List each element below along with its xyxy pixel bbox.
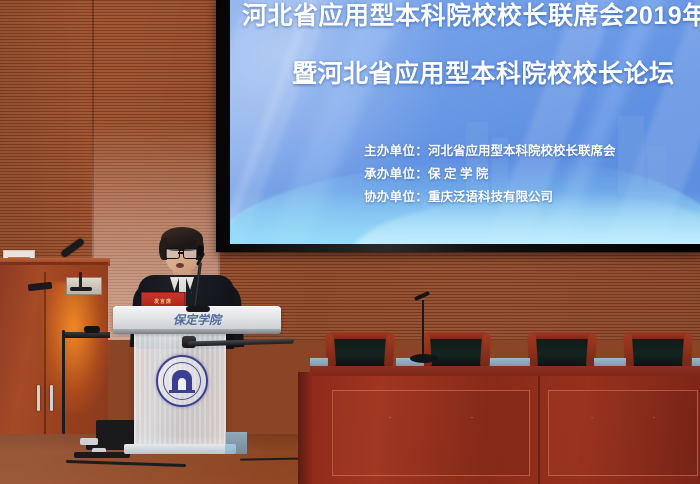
university-emblem (156, 355, 208, 407)
organizer-value: 河北省应用型本科院校校长联席会 (428, 144, 616, 158)
conference-chair[interactable] (326, 330, 394, 370)
mic-stand-stem (79, 272, 82, 289)
organizer-value: 重庆泛语科技有限公司 (428, 190, 553, 204)
lectern-top-edge (113, 329, 281, 334)
table-decor-panel (332, 390, 530, 476)
chair-backrest (332, 336, 388, 366)
organizer-label: 协办单位： (364, 190, 428, 204)
table-decor-panel (548, 390, 698, 476)
organizer-label: 主办单位： (364, 144, 428, 158)
chair-backrest (428, 336, 484, 366)
nameplate-text: 发言席 (154, 298, 172, 305)
table-left-end (298, 372, 312, 484)
emblem-arch-icon (172, 370, 192, 392)
conference-hall-scene: 河北省应用型本科院校校长联席会2019年 暨河北省应用型本科院校校长论坛 主办单… (0, 0, 700, 484)
conference-chair[interactable] (624, 330, 692, 370)
projection-screen: 河北省应用型本科院校校长联席会2019年 暨河北省应用型本科院校校长论坛 主办单… (230, 0, 700, 244)
speaker-mouth (176, 263, 184, 268)
organizer-value: 保 定 学 院 (428, 167, 488, 181)
chair-backrest (630, 336, 686, 366)
cabinet-tray-device (84, 326, 100, 333)
floor-cable-bundle (74, 452, 130, 458)
slide-title-line-1: 河北省应用型本科院校校长联席会2019年 (242, 0, 700, 32)
table-panel-chevron (561, 417, 685, 448)
speaker-glasses-lens (183, 248, 198, 259)
chair-top-rail (328, 332, 392, 339)
chair-backrest (534, 336, 590, 366)
organizer-row: 协办单位：重庆泛语科技有限公司 (364, 186, 616, 209)
organizer-label: 承办单位： (364, 167, 428, 181)
table-mic-base (410, 354, 438, 363)
cabinet-warm-light (44, 282, 110, 412)
table-panel-chevron (349, 417, 514, 448)
floor-connector (80, 438, 98, 445)
cabinet-door-seam (44, 272, 46, 440)
chair-top-rail (626, 332, 690, 339)
emblem-base-bar (169, 390, 195, 393)
podium-mic-base (186, 306, 210, 312)
slide-organizer-list: 主办单位：河北省应用型本科院校校长联席会 承办单位：保 定 学 院 协办单位：重… (364, 140, 616, 209)
lectern-foot (225, 432, 247, 454)
table-mic-stem (422, 300, 424, 358)
organizer-row: 主办单位：河北省应用型本科院校校长联席会 (364, 140, 616, 163)
chair-arm (384, 334, 395, 369)
cabinet-handle[interactable] (50, 385, 53, 411)
conference-table-group (310, 330, 700, 484)
conference-chair[interactable] (528, 330, 596, 370)
table-section-seam (538, 376, 540, 484)
conference-chair[interactable] (422, 330, 490, 370)
slide-title-line-2: 暨河北省应用型本科院校校长论坛 (292, 58, 700, 90)
mic-stand-plate (66, 277, 102, 295)
cabinet-handle[interactable] (37, 385, 40, 411)
wall-cable (62, 330, 65, 434)
speaker-glasses-bridge (178, 252, 183, 254)
chair-top-rail (530, 332, 594, 339)
chair-top-rail (424, 332, 488, 339)
lectern-base (124, 444, 236, 454)
organizer-row: 承办单位：保 定 学 院 (364, 163, 616, 186)
